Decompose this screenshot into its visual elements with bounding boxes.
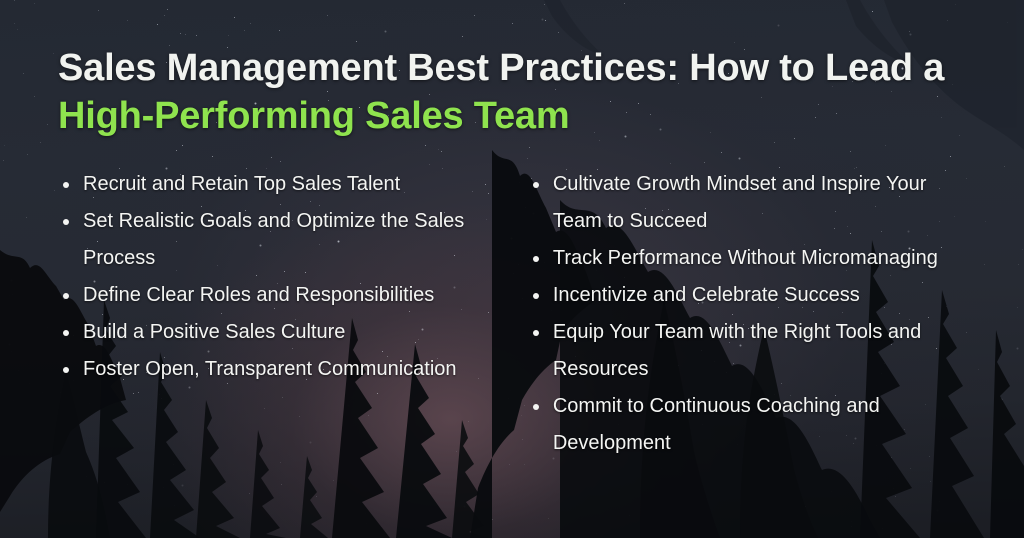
page-title: Sales Management Best Practices: How to … <box>58 44 966 140</box>
list-item: Recruit and Retain Top Sales Talent <box>58 166 512 203</box>
bullet-columns: Recruit and Retain Top Sales Talent Set … <box>58 166 966 462</box>
title-accent-text: High-Performing Sales Team <box>58 95 569 137</box>
bullet-column-right: Cultivate Growth Mindset and Inspire You… <box>512 166 966 462</box>
list-item: Track Performance Without Micromanaging <box>528 240 966 277</box>
list-item: Incentivize and Celebrate Success <box>528 277 966 314</box>
list-item: Define Clear Roles and Responsibilities <box>58 277 512 314</box>
list-item: Commit to Continuous Coaching and Develo… <box>528 388 966 462</box>
title-lead-text: Sales Management Best Practices: How to … <box>58 47 944 89</box>
slide-content: Sales Management Best Practices: How to … <box>0 0 1024 538</box>
list-item: Cultivate Growth Mindset and Inspire You… <box>528 166 966 240</box>
list-item: Set Realistic Goals and Optimize the Sal… <box>58 203 512 277</box>
bullet-column-left: Recruit and Retain Top Sales Talent Set … <box>58 166 512 462</box>
bullet-list-left: Recruit and Retain Top Sales Talent Set … <box>58 166 512 388</box>
list-item: Foster Open, Transparent Communication <box>58 351 512 388</box>
list-item: Build a Positive Sales Culture <box>58 314 512 351</box>
bullet-list-right: Cultivate Growth Mindset and Inspire You… <box>528 166 966 462</box>
slide-canvas: Sales Management Best Practices: How to … <box>0 0 1024 538</box>
list-item: Equip Your Team with the Right Tools and… <box>528 314 966 388</box>
